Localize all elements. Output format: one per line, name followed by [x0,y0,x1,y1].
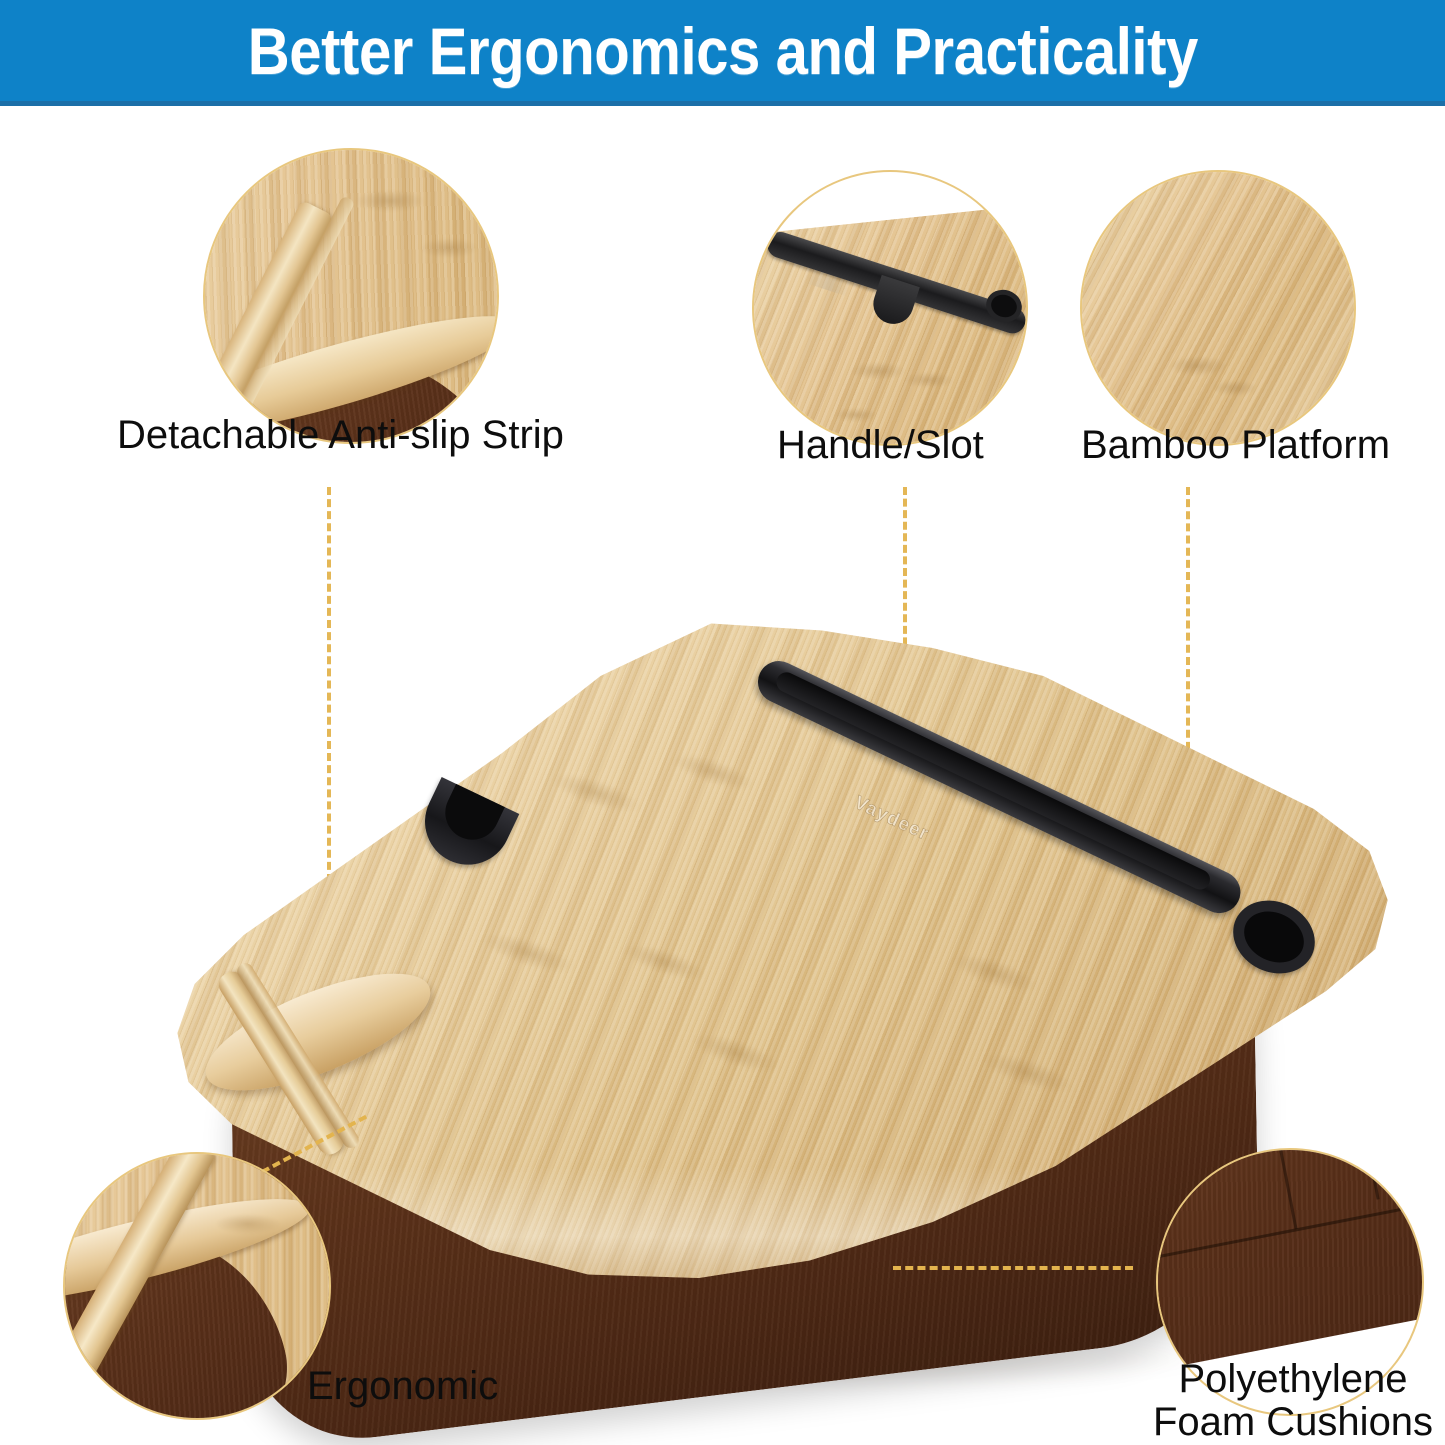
callout-image-ergonomic [65,1154,329,1418]
infographic-page: Better Ergonomics and Practicality [0,0,1445,1445]
callout-image-bamboo-platform [1082,172,1354,444]
header-banner: Better Ergonomics and Practicality [0,0,1445,101]
bamboo-knot-mark [1212,380,1258,396]
callout-label-handle-slot: Handle/Slot [777,422,984,468]
callout-circle-detachable-anti-slip-strip [203,148,499,444]
callout-circle-handle-slot [752,170,1028,446]
bamboo-knot-mark [215,1214,281,1234]
foam-cushion-surface [1156,1148,1424,1387]
header-underline [0,101,1445,106]
callout-circle-bamboo-platform [1080,170,1356,446]
connector-line-foam-cushions [893,1266,1133,1270]
page-title: Better Ergonomics and Practicality [247,18,1197,84]
callout-image-detachable-anti-slip-strip [205,150,497,442]
callout-label-ergonomic: Ergonomic [307,1363,498,1409]
callout-label-bamboo-platform: Bamboo Platform [1081,422,1390,468]
bamboo-knot-mark [355,190,425,212]
bamboo-knot-mark [1168,356,1228,376]
callout-label-detachable-anti-slip-strip: Detachable Anti-slip Strip [117,412,564,458]
bamboo-knot-mark [904,372,954,388]
callout-image-handle-slot [754,172,1026,444]
callout-label-line-2: Foam Cushions [1153,1400,1433,1444]
callout-label-polyethylene-foam-cushions: Polyethylene Foam Cushions [1148,1358,1438,1444]
callout-circle-ergonomic [63,1152,331,1420]
bamboo-knot-mark [850,362,906,380]
callout-label-line-1: Polyethylene [1178,1357,1407,1401]
bamboo-knot-mark [834,408,878,422]
bamboo-knot-mark [420,238,478,258]
